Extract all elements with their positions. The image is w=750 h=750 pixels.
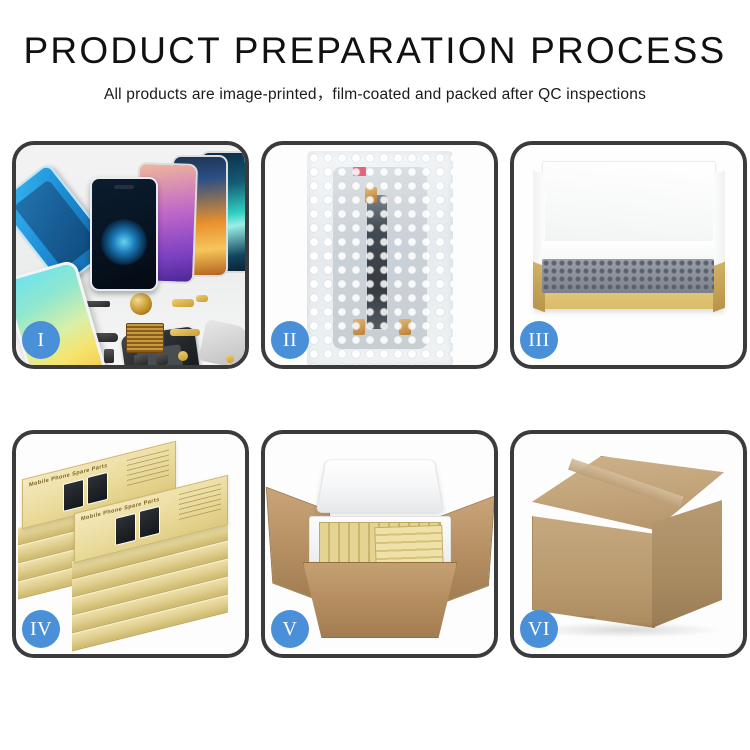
- sealed-carton-front: [532, 516, 655, 628]
- part-screw: [178, 351, 188, 361]
- part-camera: [156, 353, 168, 365]
- box-art-screen-c: [115, 513, 136, 546]
- product-preparation-infographic: PRODUCT PREPARATION PROCESS All products…: [0, 0, 750, 750]
- part-button: [104, 349, 114, 363]
- connector-bottom-right: [399, 319, 411, 335]
- carton-body: [303, 562, 457, 638]
- box-art-screen-b: [87, 472, 108, 505]
- step-badge-2: II: [271, 321, 309, 359]
- bubble-wrapped-contents: [542, 259, 714, 293]
- step-badge-6: VI: [520, 610, 558, 648]
- box-art-screen-a: [63, 479, 84, 512]
- part-gold-flex: [172, 299, 194, 307]
- part-strip: [86, 301, 110, 307]
- box-spec-lines-front: [179, 484, 221, 520]
- connector-bottom-left: [353, 319, 365, 335]
- step-panel-6[interactable]: VI: [510, 430, 747, 658]
- step-badge-4: IV: [22, 610, 60, 648]
- step-panel-2[interactable]: II: [261, 141, 498, 369]
- part-gold-small: [196, 295, 208, 302]
- box-art-screen-d: [139, 506, 160, 539]
- box-spec-lines-rear: [127, 450, 169, 486]
- part-screw-3: [236, 363, 243, 365]
- part-speaker: [130, 293, 152, 315]
- step-badge-5: V: [271, 610, 309, 648]
- part-screw-2: [226, 355, 234, 363]
- step-panel-1[interactable]: I: [12, 141, 249, 369]
- phone-black-front: [90, 177, 158, 291]
- part-ribbon: [170, 329, 200, 336]
- step-panel-4[interactable]: Mobile Phone Spare Parts Mobile Phone Sp…: [12, 430, 249, 658]
- part-chip-grid: [126, 323, 164, 353]
- foam-box-lid: [316, 459, 444, 512]
- step-panel-3[interactable]: III: [510, 141, 747, 369]
- page-subtitle: All products are image-printed，film-coat…: [0, 82, 750, 104]
- red-label-tab: [353, 167, 366, 176]
- header: PRODUCT PREPARATION PROCESS All products…: [0, 0, 750, 104]
- process-steps-grid: I II: [12, 141, 738, 658]
- connector-top: [365, 187, 377, 203]
- spare-parts-cluster: [86, 293, 245, 365]
- page-title: PRODUCT PREPARATION PROCESS: [0, 32, 750, 71]
- part-bracket: [134, 355, 148, 365]
- step-badge-1: I: [22, 321, 60, 359]
- step-badge-3: III: [520, 321, 558, 359]
- bubble-wrap-bag: [307, 151, 453, 365]
- flex-cable: [367, 195, 387, 329]
- step-panel-5[interactable]: V: [261, 430, 498, 658]
